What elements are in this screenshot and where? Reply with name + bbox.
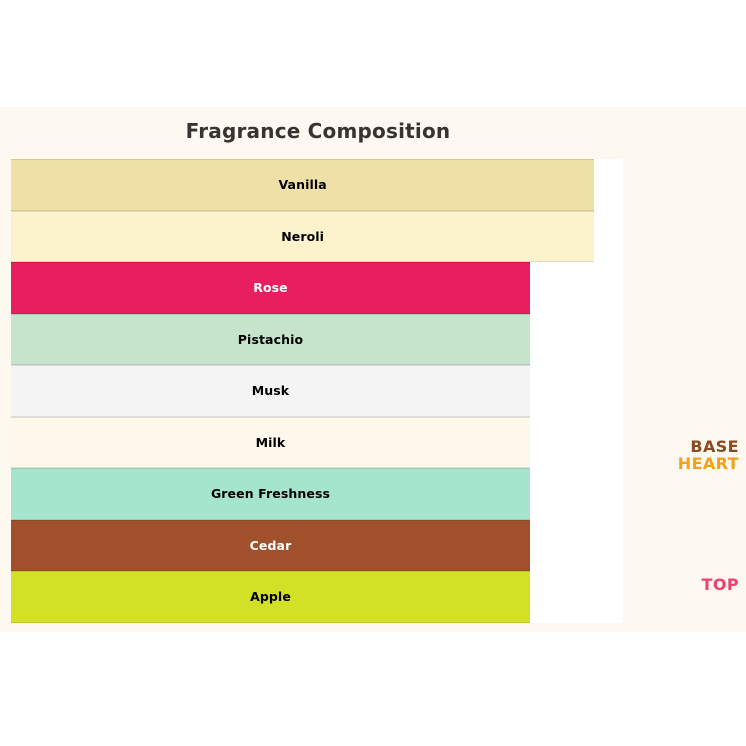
- bar-milk[interactable]: Milk: [11, 417, 623, 469]
- bar-fill: [11, 159, 594, 211]
- chart-title: Fragrance Composition: [0, 119, 636, 143]
- stage-label-top: TOP: [702, 575, 739, 594]
- bar-musk[interactable]: Musk: [11, 365, 623, 417]
- bar-fill: [11, 211, 594, 263]
- bar-fill: [11, 571, 530, 623]
- bar-pistachio[interactable]: Pistachio: [11, 314, 623, 366]
- bar-vanilla[interactable]: Vanilla: [11, 159, 623, 211]
- bar-fill: [11, 365, 530, 417]
- bar-cedar[interactable]: Cedar: [11, 520, 623, 572]
- bar-apple[interactable]: Apple: [11, 571, 623, 623]
- bar-fill: [11, 417, 530, 469]
- bar-neroli[interactable]: Neroli: [11, 211, 623, 263]
- stage-label-heart: HEART: [678, 454, 739, 473]
- bar-green-freshness[interactable]: Green Freshness: [11, 468, 623, 520]
- bar-fill: [11, 520, 530, 572]
- bar-fill: [11, 314, 530, 366]
- bar-fill: [11, 468, 530, 520]
- bar-fill: [11, 262, 530, 314]
- bar-rose[interactable]: Rose: [11, 262, 623, 314]
- chart-figure: Fragrance Composition VanillaNeroliRoseP…: [0, 107, 746, 632]
